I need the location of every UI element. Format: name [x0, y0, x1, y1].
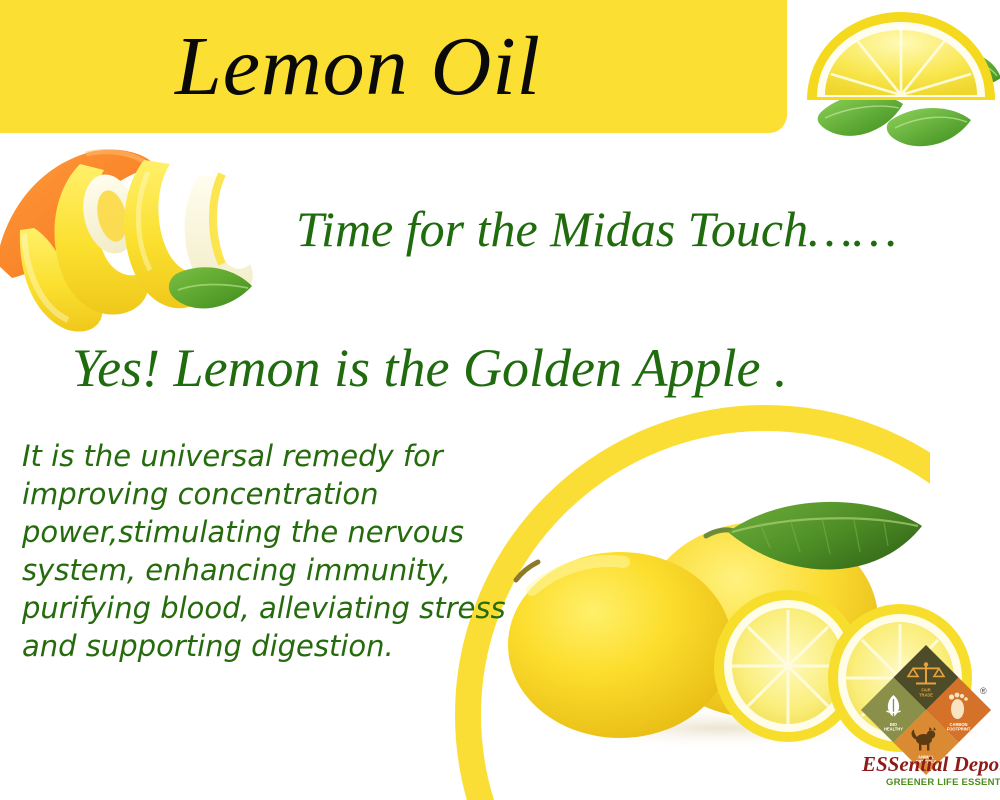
lemon-oil-poster: Lemon Oil — [0, 0, 1000, 800]
tagline-primary: Time for the Midas Touch…… — [296, 200, 897, 258]
brand-logo[interactable]: CARBON FOOTPRINT ANIMAL — [862, 664, 1000, 798]
lemon-peel-svg — [0, 138, 294, 338]
logo-tagline: GREENER LIFE ESSENTIALS — [886, 777, 1000, 788]
tagline-secondary: Yes! Lemon is the Golden Apple . — [72, 337, 787, 399]
mint-leaf-2 — [887, 108, 971, 146]
logo-wordmark-text: ESSential Depot — [862, 752, 1000, 776]
logo-quadrant-bio-healthy: BIO HEALTHY — [861, 677, 926, 742]
leaf-icon: BIO HEALTHY — [870, 687, 916, 733]
lemon-wedge-decoration — [795, 4, 1000, 174]
peel-edge-4 — [213, 174, 222, 264]
lemon-wedge-svg — [795, 4, 1000, 174]
svg-text:TRADE: TRADE — [919, 692, 933, 697]
body-paragraph: It is the universal remedy for improving… — [22, 437, 552, 665]
lemon-peel-decoration — [0, 138, 294, 338]
page-title: Lemon Oil — [175, 8, 775, 133]
wedge-center-dot — [898, 25, 904, 31]
svg-text:FOOTPRINT: FOOTPRINT — [947, 727, 971, 732]
logo-wordmark: ESSential Depot® — [862, 752, 1000, 777]
registered-mark-icon: ® — [980, 686, 987, 696]
svg-text:HEALTHY: HEALTHY — [884, 727, 903, 732]
